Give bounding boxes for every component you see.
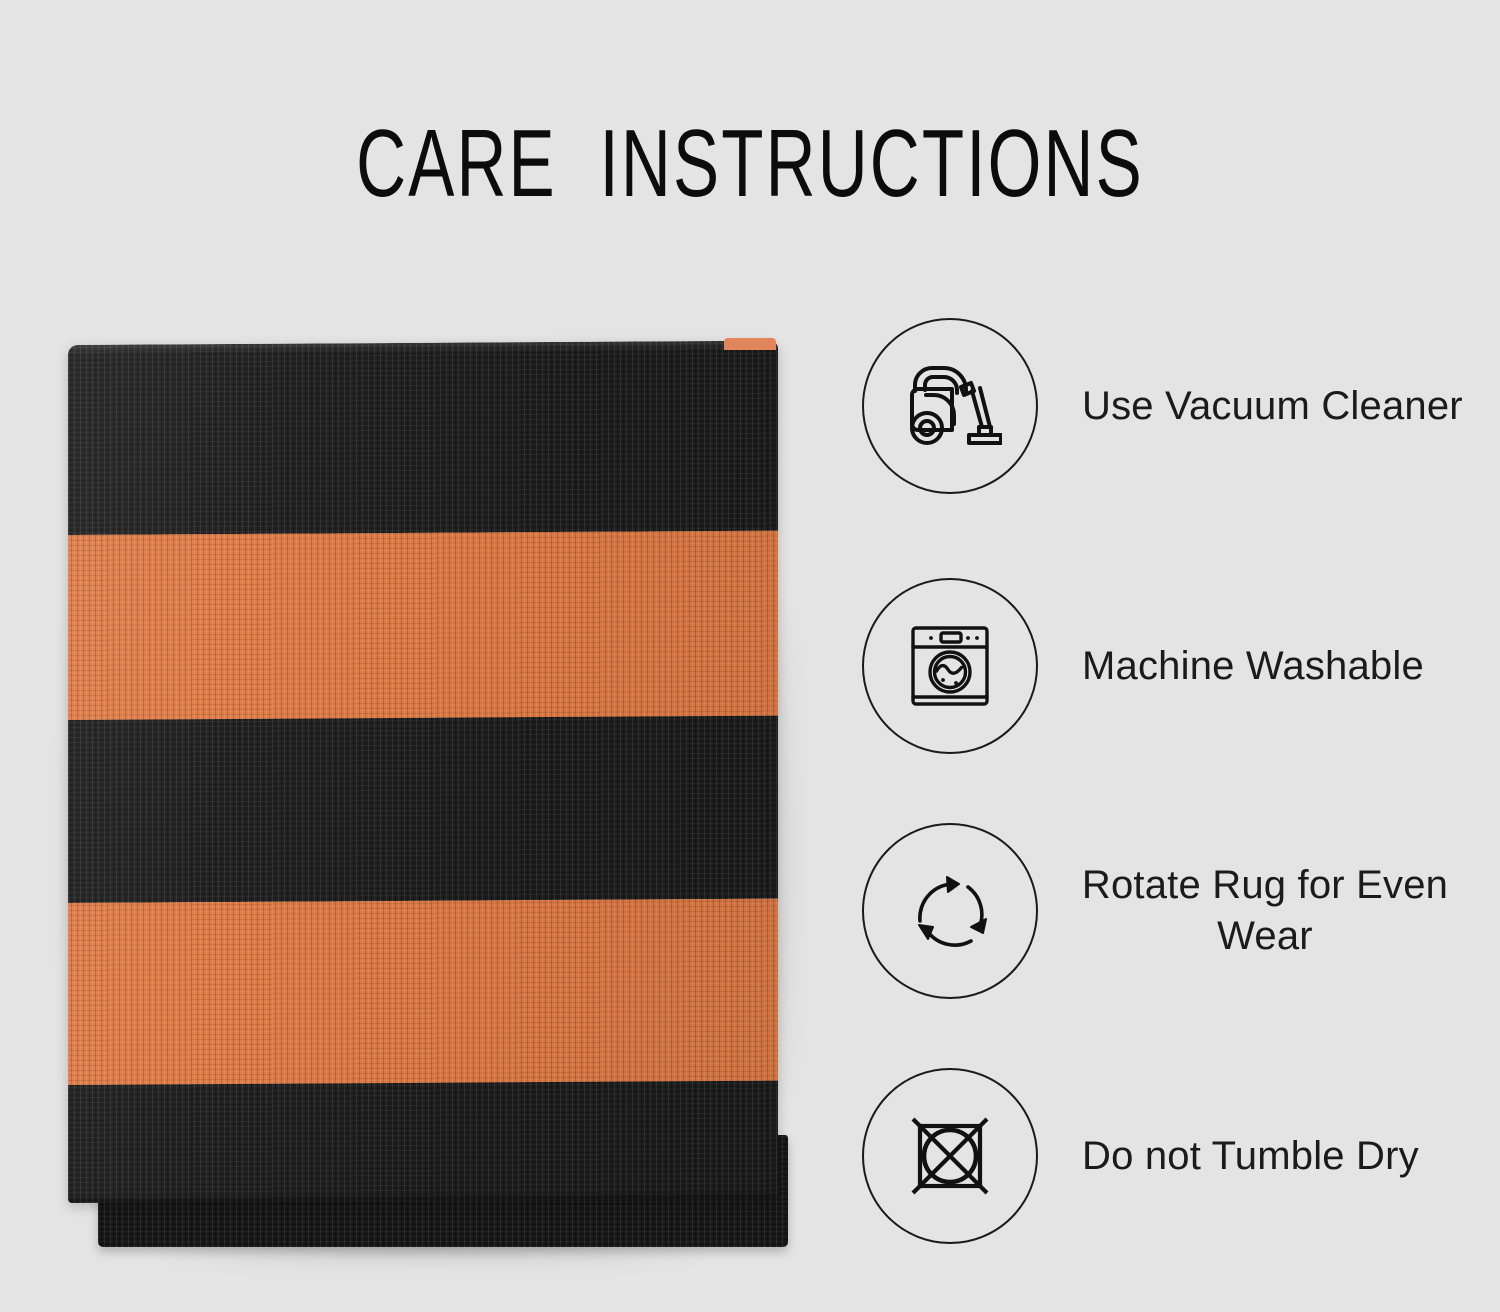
page-title: CARE INSTRUCTIONS xyxy=(210,112,1290,216)
instruction-row-machine-wash: Machine Washable xyxy=(862,578,1482,754)
rug-top-fold-layer xyxy=(68,341,778,1203)
instruction-row-no-tumble-dry: Do not Tumble Dry xyxy=(862,1068,1482,1244)
no-tumble-dry-icon xyxy=(898,1104,1002,1208)
rug-stripe-group xyxy=(68,341,778,1203)
instruction-label: Rotate Rug for Even Wear xyxy=(1070,860,1460,962)
rug-fold-stack xyxy=(60,345,782,1250)
instruction-row-vacuum: Use Vacuum Cleaner xyxy=(862,318,1482,494)
icon-badge-no-tumble-dry xyxy=(862,1068,1038,1244)
rug-stripe-band xyxy=(68,341,778,535)
rug-stripe-band xyxy=(68,1081,778,1203)
rug-fold-orange-peek xyxy=(724,338,776,350)
washing-machine-icon xyxy=(898,614,1002,718)
icon-badge-washing-machine xyxy=(862,578,1038,754)
icon-badge-rotate xyxy=(862,823,1038,999)
instruction-row-rotate: Rotate Rug for Even Wear xyxy=(862,823,1482,999)
instruction-label: Machine Washable xyxy=(1082,641,1424,692)
instruction-label: Use Vacuum Cleaner xyxy=(1082,381,1463,432)
product-image-rug xyxy=(60,345,800,1265)
instruction-label: Do not Tumble Dry xyxy=(1082,1131,1419,1182)
care-instructions-page: CARE INSTRUCTIONS xyxy=(0,0,1500,1312)
rotate-arrows-icon xyxy=(898,859,1002,963)
rug-stripe-band xyxy=(68,899,778,1085)
rug-stripe-band xyxy=(68,716,778,903)
vacuum-cleaner-icon xyxy=(898,354,1002,458)
rug-stripe-band xyxy=(68,531,778,720)
icon-badge-vacuum xyxy=(862,318,1038,494)
